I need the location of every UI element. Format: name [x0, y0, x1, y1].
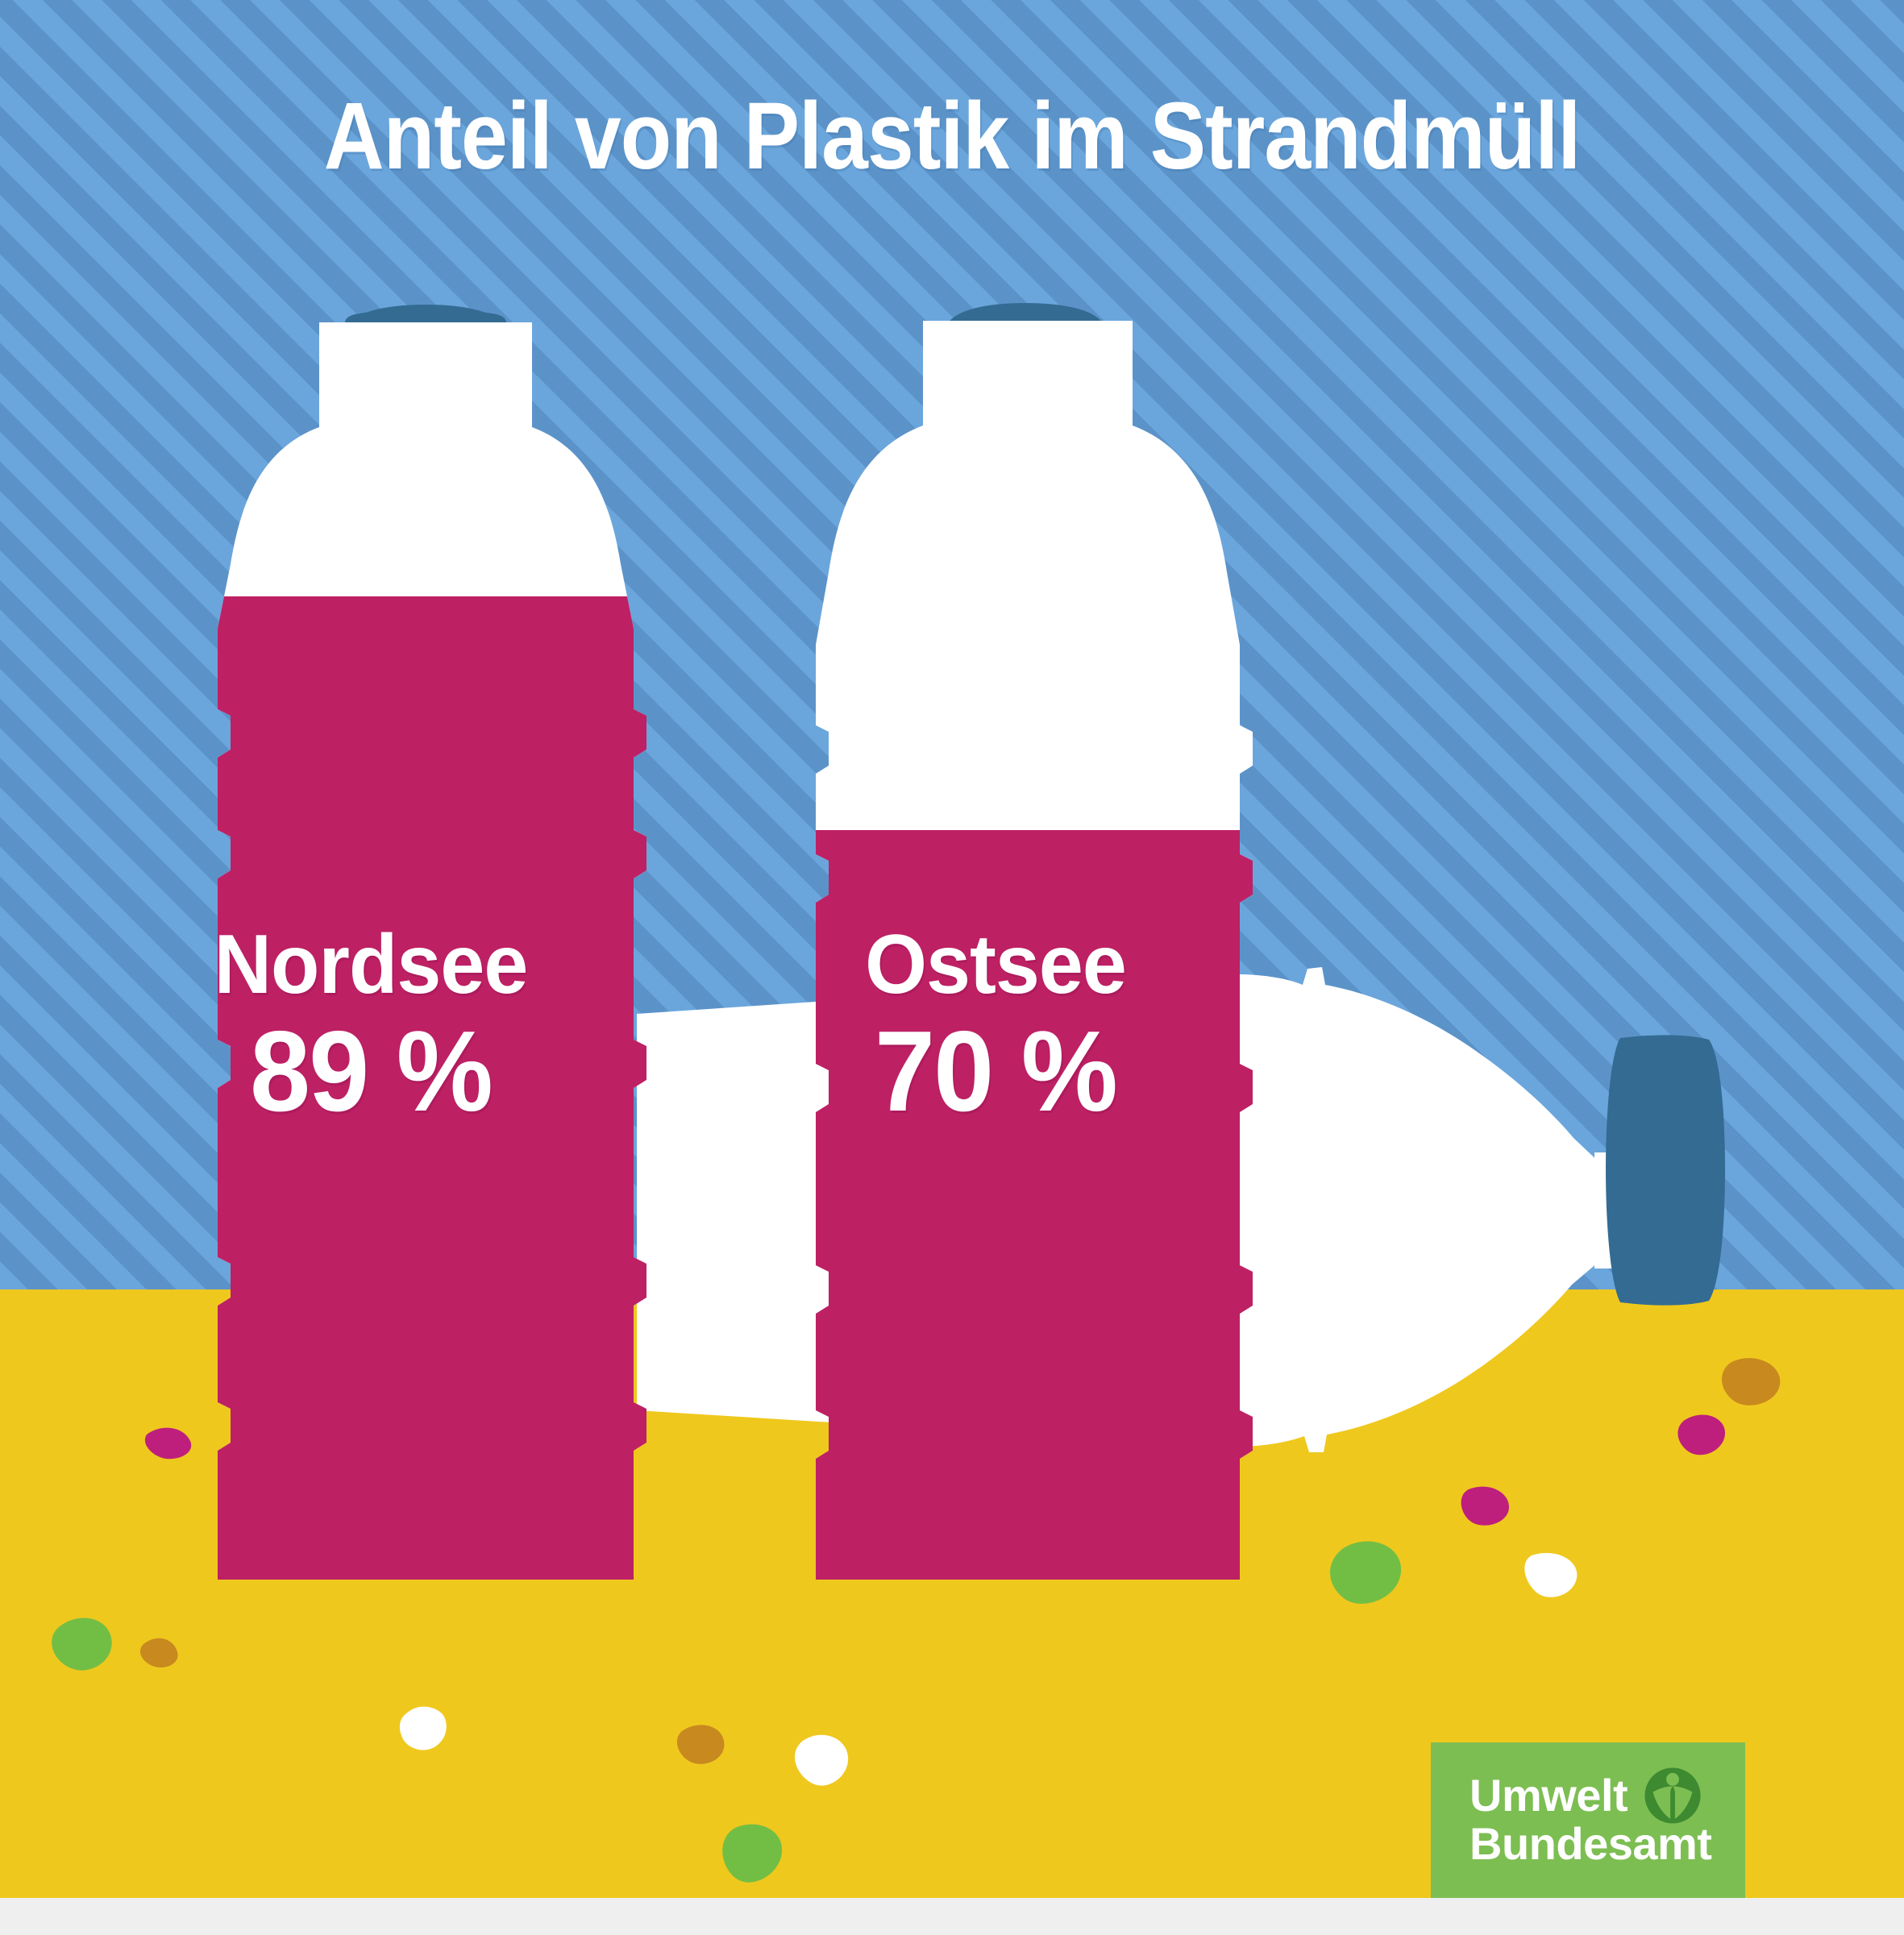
- bottle-label-ostsee: Ostsee 70 %: [770, 923, 1221, 1129]
- bottle-label-nordsee-name: Nordsee: [156, 923, 585, 1007]
- infographic-canvas: Anteil von Plastik im Strandmüll: [0, 0, 1904, 1935]
- logo-line-bundesamt: Bundesamt: [1470, 1820, 1711, 1868]
- bottle-label-nordsee: Nordsee 89 %: [145, 923, 597, 1129]
- bottom-strip: [0, 1898, 1904, 1935]
- bottle-label-ostsee-value: 70 %: [781, 1015, 1210, 1129]
- bottle-label-nordsee-value: 89 %: [156, 1015, 585, 1129]
- page-title: Anteil von Plastik im Strandmüll: [114, 89, 1790, 184]
- uba-figure-icon: [1644, 1767, 1702, 1825]
- bottle-label-ostsee-name: Ostsee: [781, 923, 1210, 1007]
